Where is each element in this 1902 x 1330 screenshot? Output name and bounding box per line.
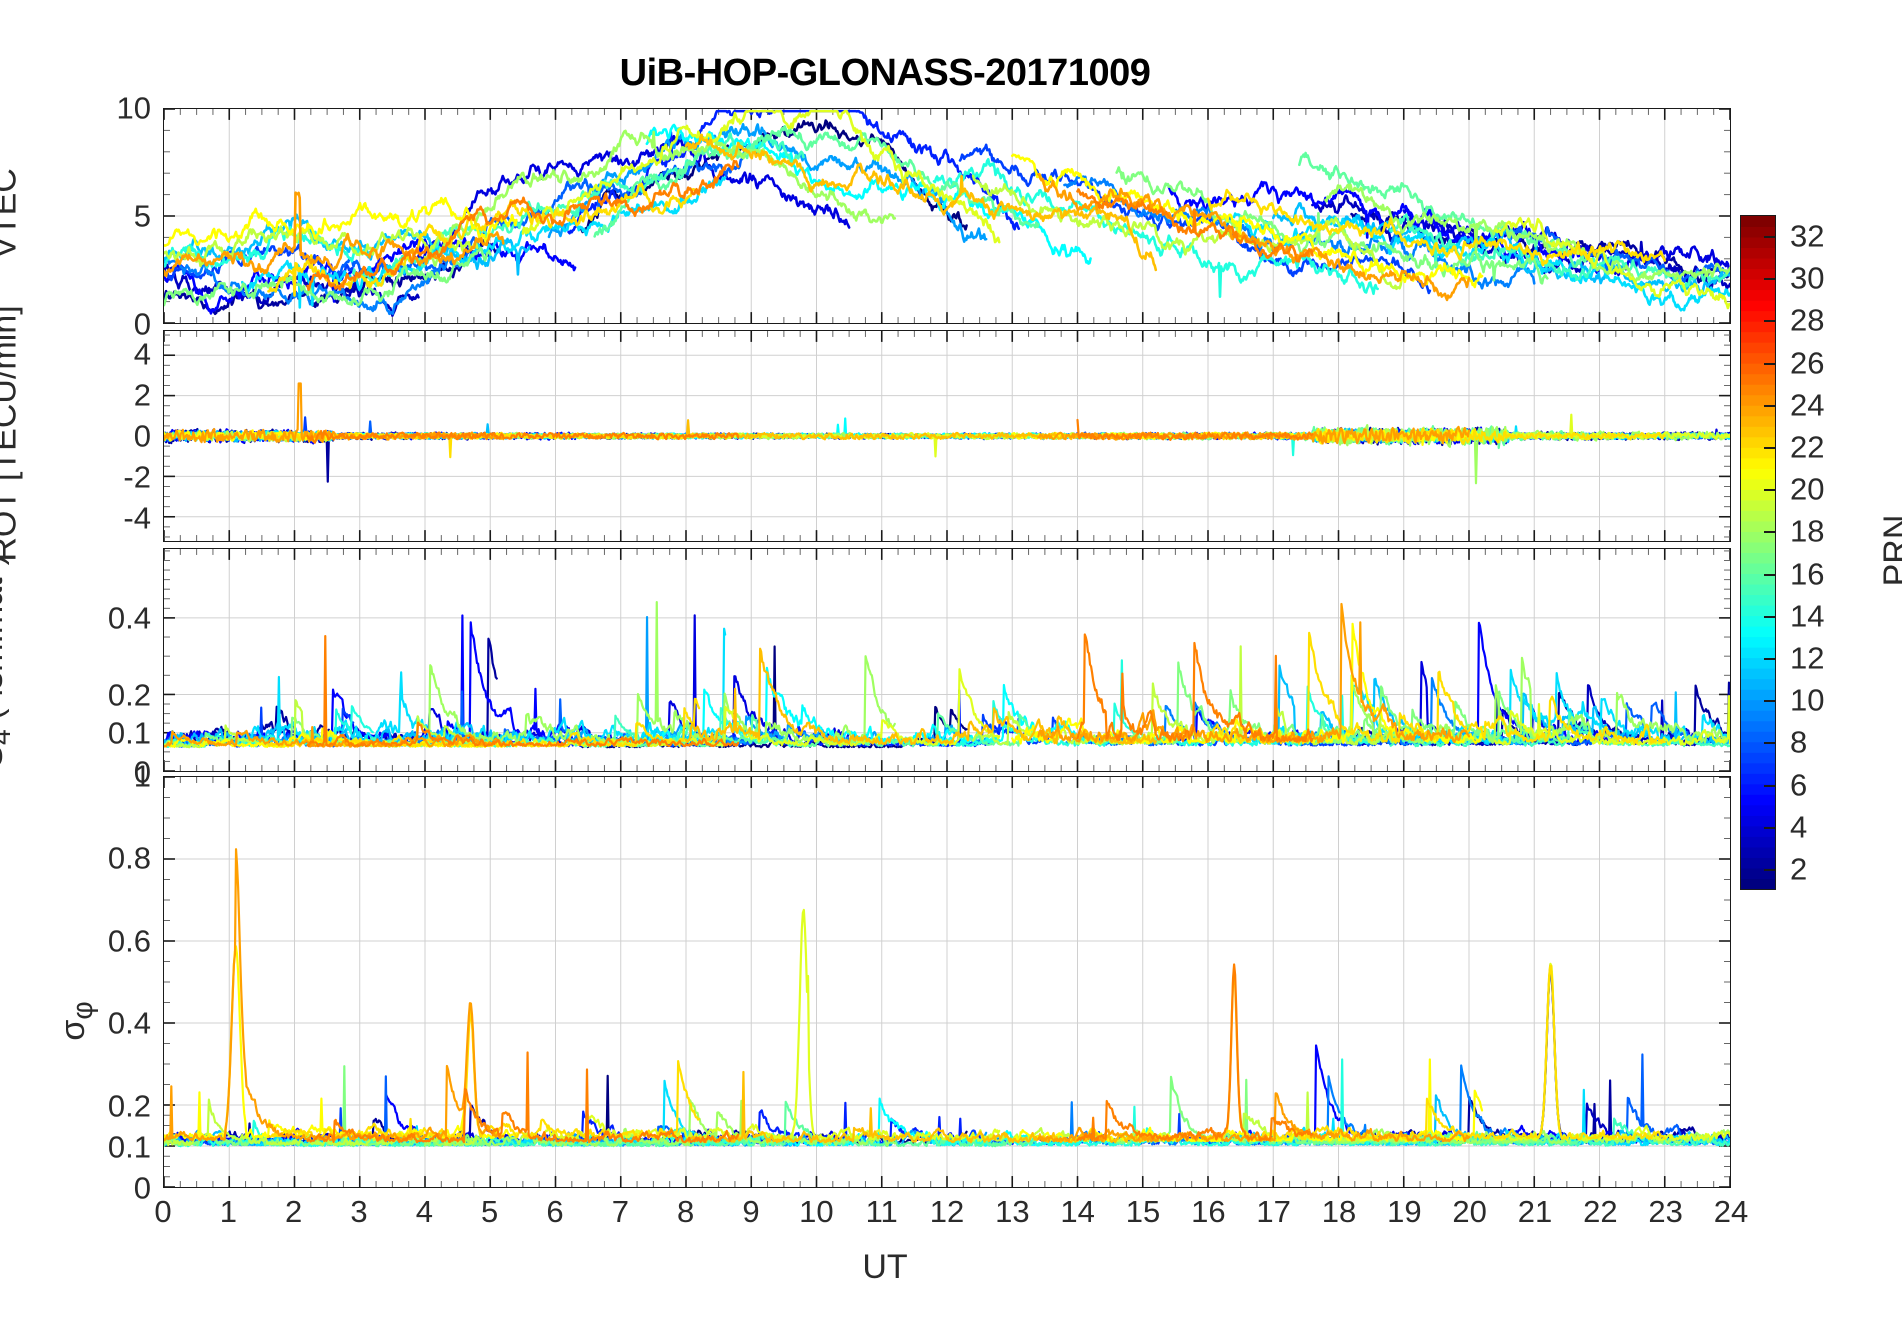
- colorbar-tick-mark: [1764, 363, 1775, 365]
- colorbar-swatch: [1741, 500, 1775, 511]
- colorbar-tick-label: 24: [1790, 389, 1824, 420]
- colorbar-swatch: [1741, 689, 1775, 700]
- colorbar-swatch: [1741, 636, 1775, 647]
- x-tick-label: 23: [1648, 1196, 1682, 1227]
- series-prn-5: [164, 615, 575, 743]
- colorbar-swatch: [1741, 563, 1775, 574]
- y-tick-label: 0.1: [108, 718, 151, 749]
- series-prn-3: [1312, 965, 1730, 1142]
- y-axis-label-sigmaphi: σφ: [54, 911, 100, 1131]
- series-prn-23: [686, 135, 1156, 270]
- colorbar-swatch: [1741, 720, 1775, 731]
- colorbar-tick-label: 22: [1790, 432, 1824, 463]
- colorbar-swatch: [1741, 773, 1775, 784]
- x-tick-label: 3: [350, 1196, 367, 1227]
- y-tick-label: 4: [134, 339, 151, 370]
- colorbar-swatch: [1741, 478, 1775, 489]
- y-tick-label: 0.8: [108, 843, 151, 874]
- x-tick-label: 2: [285, 1196, 302, 1227]
- x-tick-label: 5: [481, 1196, 498, 1227]
- y-axis-ticks-rot: -4-2024: [39, 330, 151, 542]
- colorbar-swatch: [1741, 468, 1775, 479]
- x-tick-label: 7: [612, 1196, 629, 1227]
- colorbar-swatch: [1741, 426, 1775, 437]
- colorbar-swatch: [1741, 647, 1775, 658]
- series-prn-4: [412, 615, 849, 744]
- x-tick-label: 9: [742, 1196, 759, 1227]
- x-tick-label: 14: [1060, 1196, 1094, 1227]
- plot-area-sigmaphi: [164, 777, 1730, 1187]
- colorbar-tick-mark: [1764, 616, 1775, 618]
- colorbar-tick-label: 26: [1790, 347, 1824, 378]
- colorbar-swatch: [1741, 521, 1775, 532]
- series-prn-2: [1352, 969, 1730, 1141]
- y-tick-label: 1: [134, 761, 151, 792]
- colorbar-tick-mark: [1764, 278, 1775, 280]
- colorbar-swatch: [1741, 762, 1775, 773]
- colorbar-swatch: [1741, 794, 1775, 805]
- colorbar-swatch: [1741, 279, 1775, 290]
- x-tick-label: 15: [1126, 1196, 1160, 1227]
- plot-panel-vtec: [163, 108, 1731, 324]
- colorbar-swatch: [1741, 384, 1775, 395]
- colorbar-tick-mark: [1764, 320, 1775, 322]
- y-tick-label: 0.4: [108, 602, 151, 633]
- x-tick-label: 17: [1256, 1196, 1290, 1227]
- y-tick-label: 0.2: [108, 679, 151, 710]
- colorbar-tick-label: 32: [1790, 221, 1824, 252]
- colorbar-tick-mark: [1764, 742, 1775, 744]
- colorbar-tick-label: 30: [1790, 263, 1824, 294]
- colorbar-tick-mark: [1764, 405, 1775, 407]
- x-axis-label: UT: [0, 1248, 1770, 1287]
- plot-area-vtec: [164, 109, 1730, 323]
- colorbar-tick-label: 20: [1790, 474, 1824, 505]
- colorbar-swatch: [1741, 415, 1775, 426]
- colorbar-tick-mark: [1764, 574, 1775, 576]
- x-tick-label: 0: [154, 1196, 171, 1227]
- colorbar-tick-label: 8: [1790, 727, 1807, 758]
- series-prn-20: [1495, 964, 1730, 1140]
- colorbar-swatch: [1741, 626, 1775, 637]
- series-prn-22: [268, 1012, 699, 1137]
- colorbar-tick-label: 14: [1790, 600, 1824, 631]
- y-axis-label-s4: S4 ("ism.mat"): [0, 519, 18, 803]
- colorbar-swatch: [1741, 815, 1775, 826]
- colorbar-swatch: [1741, 321, 1775, 332]
- colorbar-tick-label: 4: [1790, 811, 1807, 842]
- y-tick-label: 0.1: [108, 1131, 151, 1162]
- x-tick-label: 20: [1452, 1196, 1486, 1227]
- colorbar-swatch: [1741, 584, 1775, 595]
- colorbar-tick-label: 10: [1790, 685, 1824, 716]
- grid-lines: [164, 777, 1730, 1187]
- colorbar-swatch: [1741, 836, 1775, 847]
- series-prn-24: [164, 849, 503, 1140]
- colorbar-tick-mark: [1764, 700, 1775, 702]
- colorbar-swatch: [1741, 605, 1775, 616]
- colorbar-tick-mark: [1764, 489, 1775, 491]
- x-tick-label: 21: [1518, 1196, 1552, 1227]
- colorbar-swatch: [1741, 552, 1775, 563]
- colorbar-tick-label: 16: [1790, 558, 1824, 589]
- colorbar-swatch: [1741, 542, 1775, 553]
- colorbar-swatch: [1741, 710, 1775, 721]
- y-tick-label: 0: [134, 421, 151, 452]
- y-axis-ticks-vtec: 0510: [39, 108, 151, 324]
- y-tick-label: -2: [123, 461, 151, 492]
- colorbar-tick-label: 6: [1790, 769, 1807, 800]
- colorbar-swatch: [1741, 678, 1775, 689]
- x-tick-label: 18: [1322, 1196, 1356, 1227]
- colorbar-swatch: [1741, 331, 1775, 342]
- colorbar-tick-mark: [1764, 785, 1775, 787]
- plot-area-rot: [164, 331, 1730, 541]
- colorbar-swatch: [1741, 668, 1775, 679]
- x-tick-label: 8: [677, 1196, 694, 1227]
- colorbar-tick-label: 2: [1790, 853, 1807, 884]
- plot-panel-s4: [163, 548, 1731, 772]
- colorbar-swatch: [1741, 237, 1775, 248]
- colorbar-tick-labels: 2468101214161820222426283032: [1790, 215, 1880, 890]
- series-prn-8: [1502, 1054, 1730, 1144]
- colorbar-swatch: [1741, 878, 1775, 889]
- figure-canvas: UiB-HOP-GLONASS-20171009 012345678910111…: [0, 0, 1902, 1330]
- colorbar-swatch: [1741, 342, 1775, 353]
- colorbar-swatch: [1741, 300, 1775, 311]
- colorbar-swatch: [1741, 258, 1775, 269]
- colorbar-swatch: [1741, 373, 1775, 384]
- x-tick-label: 6: [546, 1196, 563, 1227]
- colorbar-label: PRN: [1877, 183, 1902, 918]
- colorbar-tick-mark: [1764, 531, 1775, 533]
- y-tick-label: 0: [134, 1173, 151, 1204]
- colorbar-swatch: [1741, 804, 1775, 815]
- colorbar-gradient: [1741, 216, 1775, 889]
- x-tick-label: 16: [1191, 1196, 1225, 1227]
- y-tick-label: -4: [123, 502, 151, 533]
- series-prn-25: [1078, 965, 1313, 1141]
- x-tick-label: 19: [1387, 1196, 1421, 1227]
- figure-title: UiB-HOP-GLONASS-20171009: [0, 52, 1770, 95]
- colorbar-swatch: [1741, 457, 1775, 468]
- x-axis-tick-labels: 0123456789101112131415161718192021222324: [0, 1196, 1902, 1236]
- colorbar-swatch: [1741, 752, 1775, 763]
- y-tick-label: 0.2: [108, 1090, 151, 1121]
- x-tick-label: 4: [416, 1196, 433, 1227]
- colorbar-tick-label: 28: [1790, 305, 1824, 336]
- plot-panel-sigmaphi: [163, 776, 1731, 1188]
- colorbar-tick-mark: [1764, 827, 1775, 829]
- y-tick-label: 10: [117, 93, 151, 124]
- colorbar: [1740, 215, 1776, 890]
- x-tick-label: 1: [220, 1196, 237, 1227]
- x-tick-label: 12: [930, 1196, 964, 1227]
- colorbar-tick-mark: [1764, 658, 1775, 660]
- y-axis-ticks-s4: 00.10.20.4: [39, 548, 151, 772]
- colorbar-swatch: [1741, 594, 1775, 605]
- colorbar-swatch: [1741, 289, 1775, 300]
- x-tick-label: 24: [1714, 1196, 1748, 1227]
- x-tick-label: 22: [1583, 1196, 1617, 1227]
- colorbar-tick-mark: [1764, 236, 1775, 238]
- plot-panel-rot: [163, 330, 1731, 542]
- y-tick-label: 0.6: [108, 925, 151, 956]
- x-tick-label: 13: [995, 1196, 1029, 1227]
- colorbar-tick-mark: [1764, 869, 1775, 871]
- plot-area-s4: [164, 549, 1730, 771]
- colorbar-swatch: [1741, 847, 1775, 858]
- colorbar-swatch: [1741, 731, 1775, 742]
- colorbar-tick-label: 12: [1790, 642, 1824, 673]
- colorbar-tick-mark: [1764, 447, 1775, 449]
- colorbar-swatch: [1741, 216, 1775, 227]
- x-tick-label: 11: [866, 1196, 898, 1227]
- colorbar-swatch: [1741, 510, 1775, 521]
- x-tick-label: 10: [799, 1196, 833, 1227]
- y-tick-label: 0.4: [108, 1008, 151, 1039]
- colorbar-swatch: [1741, 247, 1775, 258]
- colorbar-swatch: [1741, 857, 1775, 868]
- y-tick-label: 2: [134, 380, 151, 411]
- y-tick-label: 5: [134, 201, 151, 232]
- colorbar-tick-label: 18: [1790, 516, 1824, 547]
